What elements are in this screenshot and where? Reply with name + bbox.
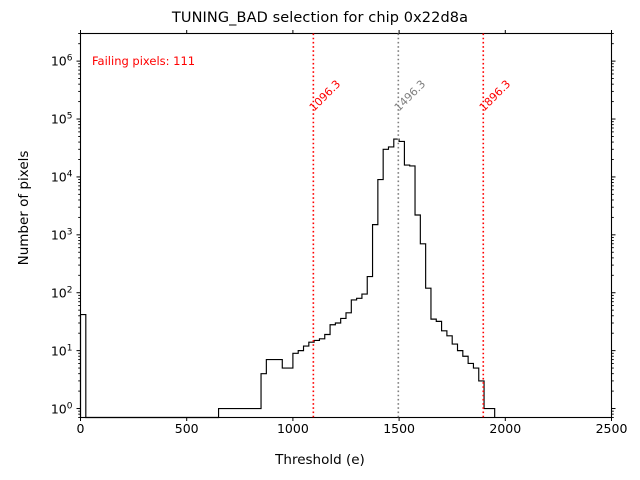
y-tick-label: 104 [29, 169, 73, 184]
x-tick-label: 2500 [596, 421, 628, 436]
y-tick-label: 101 [29, 343, 73, 358]
y-tick-label: 102 [29, 285, 73, 300]
axes-frame [81, 34, 612, 418]
x-tick-label: 500 [175, 421, 199, 436]
y-tick-label: 100 [29, 401, 73, 416]
y-tick-label: 103 [29, 227, 73, 242]
x-tick-label: 1000 [277, 421, 309, 436]
y-tick-label: 105 [29, 111, 73, 126]
x-tick-label: 0 [77, 421, 85, 436]
histogram-steps [81, 139, 495, 417]
y-tick-label: 106 [29, 54, 73, 69]
histogram-figure: TUNING_BAD selection for chip 0x22d8a Nu… [0, 0, 640, 480]
x-tick-label: 2000 [489, 421, 521, 436]
tick-marks [77, 30, 616, 421]
plot-canvas [0, 0, 640, 480]
x-tick-label: 1500 [383, 421, 415, 436]
